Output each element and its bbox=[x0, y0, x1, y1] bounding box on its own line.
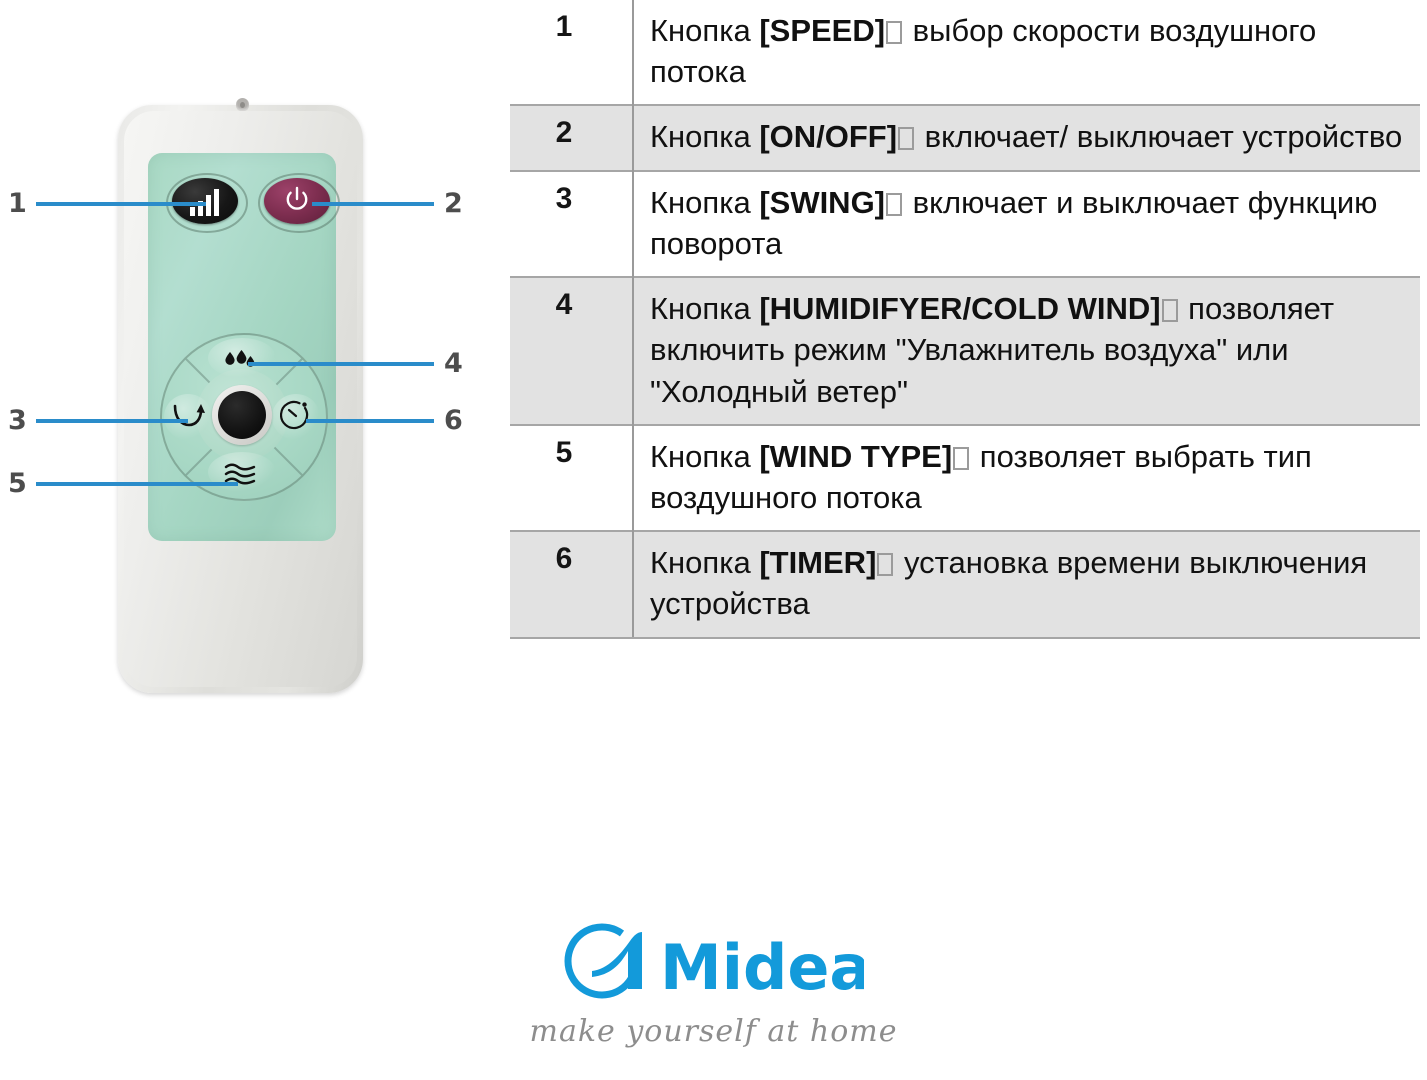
callout-leader-1 bbox=[36, 202, 206, 206]
callout-leader-4 bbox=[248, 362, 434, 366]
row-key-label: [SPEED] bbox=[759, 13, 885, 48]
callout-number-2: 2 bbox=[444, 190, 463, 217]
logo-wordmark: Midea bbox=[660, 931, 864, 1004]
callout-leader-6 bbox=[306, 419, 434, 423]
table-row: 5 Кнопка [WIND TYPE] позволяет выбрать т… bbox=[510, 425, 1420, 531]
row-suffix: включает/ выключает устройство bbox=[916, 119, 1402, 154]
remote-hanging-loop bbox=[236, 98, 249, 111]
timer-clock-icon bbox=[280, 400, 312, 432]
callout-leader-5 bbox=[36, 482, 238, 486]
row-prefix: Кнопка bbox=[650, 439, 759, 474]
row-number: 3 bbox=[510, 171, 633, 277]
row-description: Кнопка [SWING] включает и выключает функ… bbox=[633, 171, 1420, 277]
remote-control-illustration: 1 2 3 4 5 6 bbox=[0, 0, 508, 820]
table-row: 1 Кнопка [SPEED] выбор скорости воздушно… bbox=[510, 0, 1420, 105]
missing-glyph-box bbox=[898, 127, 914, 150]
row-number: 1 bbox=[510, 0, 633, 105]
brand-logo-block: Midea make yourself at home bbox=[0, 915, 1427, 1049]
row-key-label: [ON/OFF] bbox=[759, 119, 897, 154]
row-number: 6 bbox=[510, 531, 633, 637]
table-row: 4 Кнопка [HUMIDIFYER/COLD WIND] позволяе… bbox=[510, 277, 1420, 425]
callout-number-5: 5 bbox=[8, 470, 27, 497]
callout-number-4: 4 bbox=[444, 350, 463, 377]
row-key-label: [WIND TYPE] bbox=[759, 439, 952, 474]
swing-arrow-icon bbox=[172, 402, 206, 430]
table-row: 6 Кнопка [TIMER] установка времени выклю… bbox=[510, 531, 1420, 637]
logo-tagline: make yourself at home bbox=[0, 1014, 1427, 1049]
callout-leader-3 bbox=[36, 419, 188, 423]
power-icon bbox=[286, 186, 308, 214]
row-number: 2 bbox=[510, 105, 633, 170]
table-row: 2 Кнопка [ON/OFF] включает/ выключает ус… bbox=[510, 105, 1420, 170]
button-legend-table: 1 Кнопка [SPEED] выбор скорости воздушно… bbox=[510, 0, 1420, 639]
row-prefix: Кнопка bbox=[650, 119, 759, 154]
row-prefix: Кнопка bbox=[650, 291, 759, 326]
callout-number-3: 3 bbox=[8, 407, 27, 434]
missing-glyph-box bbox=[886, 21, 902, 44]
row-description: Кнопка [HUMIDIFYER/COLD WIND] позволяет … bbox=[633, 277, 1420, 425]
row-number: 4 bbox=[510, 277, 633, 425]
callout-number-6: 6 bbox=[444, 407, 463, 434]
row-key-label: [SWING] bbox=[759, 185, 885, 220]
row-description: Кнопка [TIMER] установка времени выключе… bbox=[633, 531, 1420, 637]
missing-glyph-box bbox=[953, 447, 969, 470]
row-description: Кнопка [WIND TYPE] позволяет выбрать тип… bbox=[633, 425, 1420, 531]
missing-glyph-box bbox=[886, 193, 902, 216]
row-prefix: Кнопка bbox=[650, 185, 759, 220]
missing-glyph-box bbox=[877, 553, 893, 576]
row-key-label: [HUMIDIFYER/COLD WIND] bbox=[759, 291, 1160, 326]
row-number: 5 bbox=[510, 425, 633, 531]
row-prefix: Кнопка bbox=[650, 13, 759, 48]
row-description: Кнопка [ON/OFF] включает/ выключает устр… bbox=[633, 105, 1420, 170]
row-key-label: [TIMER] bbox=[759, 545, 876, 580]
callout-leader-2 bbox=[312, 202, 434, 206]
signal-bars-icon bbox=[190, 186, 222, 216]
water-drops-icon bbox=[222, 348, 262, 372]
midea-logo: Midea bbox=[564, 915, 864, 1007]
table-row: 3 Кнопка [SWING] включает и выключает фу… bbox=[510, 171, 1420, 277]
missing-glyph-box bbox=[1162, 299, 1178, 322]
pad-center-hub[interactable] bbox=[218, 391, 266, 439]
row-description: Кнопка [SPEED] выбор скорости воздушного… bbox=[633, 0, 1420, 105]
row-prefix: Кнопка bbox=[650, 545, 759, 580]
callout-number-1: 1 bbox=[8, 190, 27, 217]
